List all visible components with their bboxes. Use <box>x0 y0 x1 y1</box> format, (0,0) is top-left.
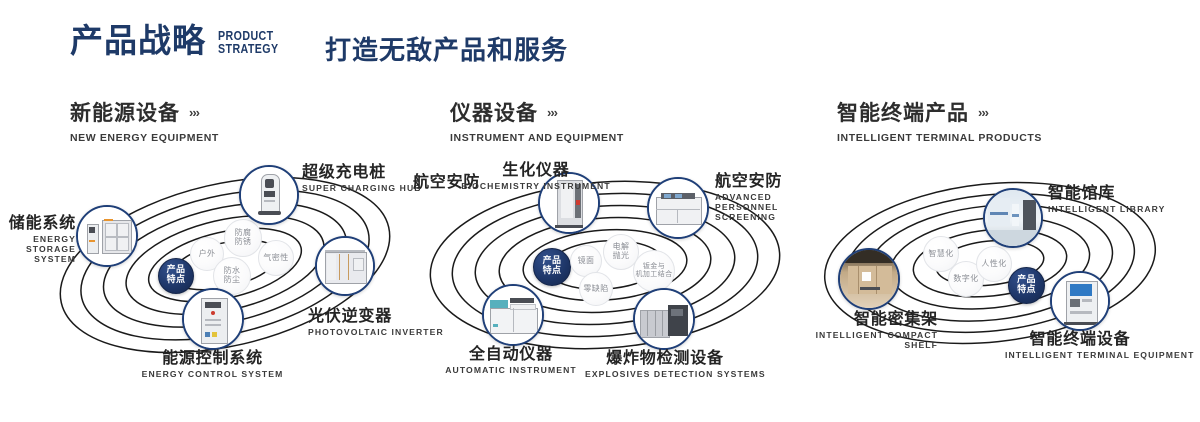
node-label-energy-control-system: 能源控制系统 ENERGY CONTROL SYSTEM <box>130 350 295 379</box>
center-badge-line2: 特点 <box>543 267 562 277</box>
compact-shelf-icon <box>840 250 898 308</box>
node-label-cn: 全自动仪器 <box>433 346 589 363</box>
node-label-cn: 智能终端设备 <box>1005 331 1155 348</box>
node-label-cn: 爆炸物检测设备 <box>585 350 745 367</box>
section-title-en: NEW ENERGY EQUIPMENT <box>70 132 219 144</box>
node-label-cn: 航空安防 <box>715 173 805 190</box>
node-label-cn: 能源控制系统 <box>130 350 295 367</box>
page-title-english: PRODUCT STRATEGY <box>218 29 279 55</box>
inverter-cabinet-icon <box>317 238 373 294</box>
node-photovoltaic-inverter[interactable] <box>315 236 375 296</box>
node-smart-library[interactable] <box>983 188 1043 248</box>
node-label-energy-storage: 储能系统 ENERGY STORAGE SYSTEM <box>0 215 76 264</box>
charging-pile-icon <box>241 167 297 223</box>
section-title-intelligent-terminal: 智能终端产品››› INTELLIGENT TERMINAL PRODUCTS <box>837 97 1042 144</box>
explosives-detector-icon <box>635 290 693 348</box>
section-title-en: INSTRUMENT AND EQUIPMENT <box>450 132 624 144</box>
node-label-en: ADVANCED PERSONNEL SCREENING <box>715 192 805 222</box>
center-badge-product-features: 产品 特点 <box>158 258 194 294</box>
node-label-cn: 智能馆库 <box>1048 185 1166 202</box>
node-energy-storage[interactable] <box>76 205 138 267</box>
page-title: 产品战略 <box>70 24 206 57</box>
node-label-en: BIOCHEMISTRY INSTRUMENT <box>461 181 611 191</box>
node-automatic-instrument[interactable] <box>482 284 544 346</box>
feature-bubble-humanized: 人性化 <box>976 246 1012 282</box>
page-slogan: 打造无敌产品和服务 <box>325 30 568 67</box>
node-label-en: ENERGY CONTROL SYSTEM <box>130 369 295 379</box>
section-title-cn: 新能源设备 <box>70 97 180 127</box>
center-badge-product-features: 产品 特点 <box>533 248 571 286</box>
node-label-automatic-instrument: 全自动仪器 AUTOMATIC INSTRUMENT <box>433 346 589 375</box>
node-label-compact-shelf: 智能密集架 INTELLIGENT COMPACT SHELF <box>808 311 938 350</box>
section-title-cn: 智能终端产品 <box>837 97 969 127</box>
center-badge-line2: 特点 <box>1017 286 1036 296</box>
node-label-en: INTELLIGENT COMPACT SHELF <box>808 330 938 350</box>
node-label-explosives-detection: 爆炸物检测设备 EXPLOSIVES DETECTION SYSTEMS <box>585 350 745 379</box>
node-label-en: EXPLOSIVES DETECTION SYSTEMS <box>585 369 745 379</box>
control-cabinet-icon <box>184 290 242 348</box>
node-explosives-detection[interactable] <box>633 288 695 350</box>
node-label-cn: 储能系统 <box>0 215 76 232</box>
node-label-en: PHOTOVOLTAIC INVERTER <box>308 327 444 337</box>
smart-library-icon <box>985 190 1041 246</box>
center-badge-product-features: 产品 特点 <box>1008 267 1045 304</box>
feature-bubble-anticorrosion: 防腐 防锈 <box>224 219 262 257</box>
node-label-photovoltaic-inverter: 光伏逆变器 PHOTOVOLTAIC INVERTER <box>308 308 444 337</box>
node-label-en: SUPER CHARGING HUB <box>302 183 422 193</box>
diagram-intelligent-terminal: 智慧化 数字化 人性化 产品 特点 智能馆库 INTELLIGENT LIBRA… <box>820 163 1160 368</box>
node-label-cn: 光伏逆变器 <box>308 308 444 325</box>
node-label-en: INTELLIGENT LIBRARY <box>1048 204 1166 214</box>
page-header: 产品战略 PRODUCT STRATEGY <box>70 24 292 57</box>
node-label-personnel-screening: 航空安防 ADVANCED PERSONNEL SCREENING <box>715 173 805 222</box>
node-smart-terminal[interactable] <box>1050 271 1110 331</box>
section-title-cn: 仪器设备 <box>450 97 538 127</box>
node-label-biochemistry-instrument: 生化仪器 BIOCHEMISTRY INSTRUMENT <box>461 162 611 191</box>
node-label-smart-library: 智能馆库 INTELLIGENT LIBRARY <box>1048 185 1166 214</box>
diagram-new-energy: 产品 特点 户外 防腐 防锈 气密性 防水 防尘 储能系统 ENERGY STO… <box>50 160 400 370</box>
node-personnel-screening[interactable] <box>647 177 709 239</box>
center-badge-line2: 特点 <box>167 276 186 286</box>
node-label-cn: 智能密集架 <box>808 311 938 328</box>
node-label-cn: 生化仪器 <box>461 162 611 179</box>
chevron-right-triple-icon: ››› <box>978 105 988 120</box>
node-label-en: ENERGY STORAGE SYSTEM <box>0 234 76 264</box>
node-energy-control-system[interactable] <box>182 288 244 350</box>
diagram-instrument: 产品 特点 镜面 电解 抛光 钣金与 机加工结合 零缺陷 航空安防 生化仪器 B… <box>425 160 785 370</box>
node-label-smart-terminal: 智能终端设备 INTELLIGENT TERMINAL EQUIPMENT <box>1005 331 1155 360</box>
node-compact-shelf[interactable] <box>838 248 900 310</box>
section-title-new-energy: 新能源设备››› NEW ENERGY EQUIPMENT <box>70 97 219 144</box>
section-title-en: INTELLIGENT TERMINAL PRODUCTS <box>837 132 1042 144</box>
automatic-instrument-icon <box>484 286 542 344</box>
smart-terminal-icon <box>1052 273 1108 329</box>
battery-cabinet-icon <box>78 207 136 265</box>
feature-bubble-zero-defect: 零缺陷 <box>579 272 613 306</box>
node-super-charging-hub[interactable] <box>239 165 299 225</box>
node-label-en: INTELLIGENT TERMINAL EQUIPMENT <box>1005 350 1155 360</box>
chevron-right-triple-icon: ››› <box>189 105 199 120</box>
page-title-english-line2: STRATEGY <box>218 42 279 55</box>
feature-bubble-airtight: 气密性 <box>258 240 294 276</box>
node-label-en: AUTOMATIC INSTRUMENT <box>433 365 589 375</box>
node-label-cn: 超级充电桩 <box>302 164 422 181</box>
personnel-screening-icon <box>649 179 707 237</box>
feature-bubble-sheetmetal-machining: 钣金与 机加工结合 <box>633 250 675 292</box>
product-strategy-infographic: 产品战略 PRODUCT STRATEGY 打造无敌产品和服务 新能源设备›››… <box>0 0 1200 422</box>
section-title-instrument: 仪器设备››› INSTRUMENT AND EQUIPMENT <box>450 97 624 144</box>
node-label-super-charging-hub: 超级充电桩 SUPER CHARGING HUB <box>302 164 422 193</box>
chevron-right-triple-icon: ››› <box>547 105 557 120</box>
